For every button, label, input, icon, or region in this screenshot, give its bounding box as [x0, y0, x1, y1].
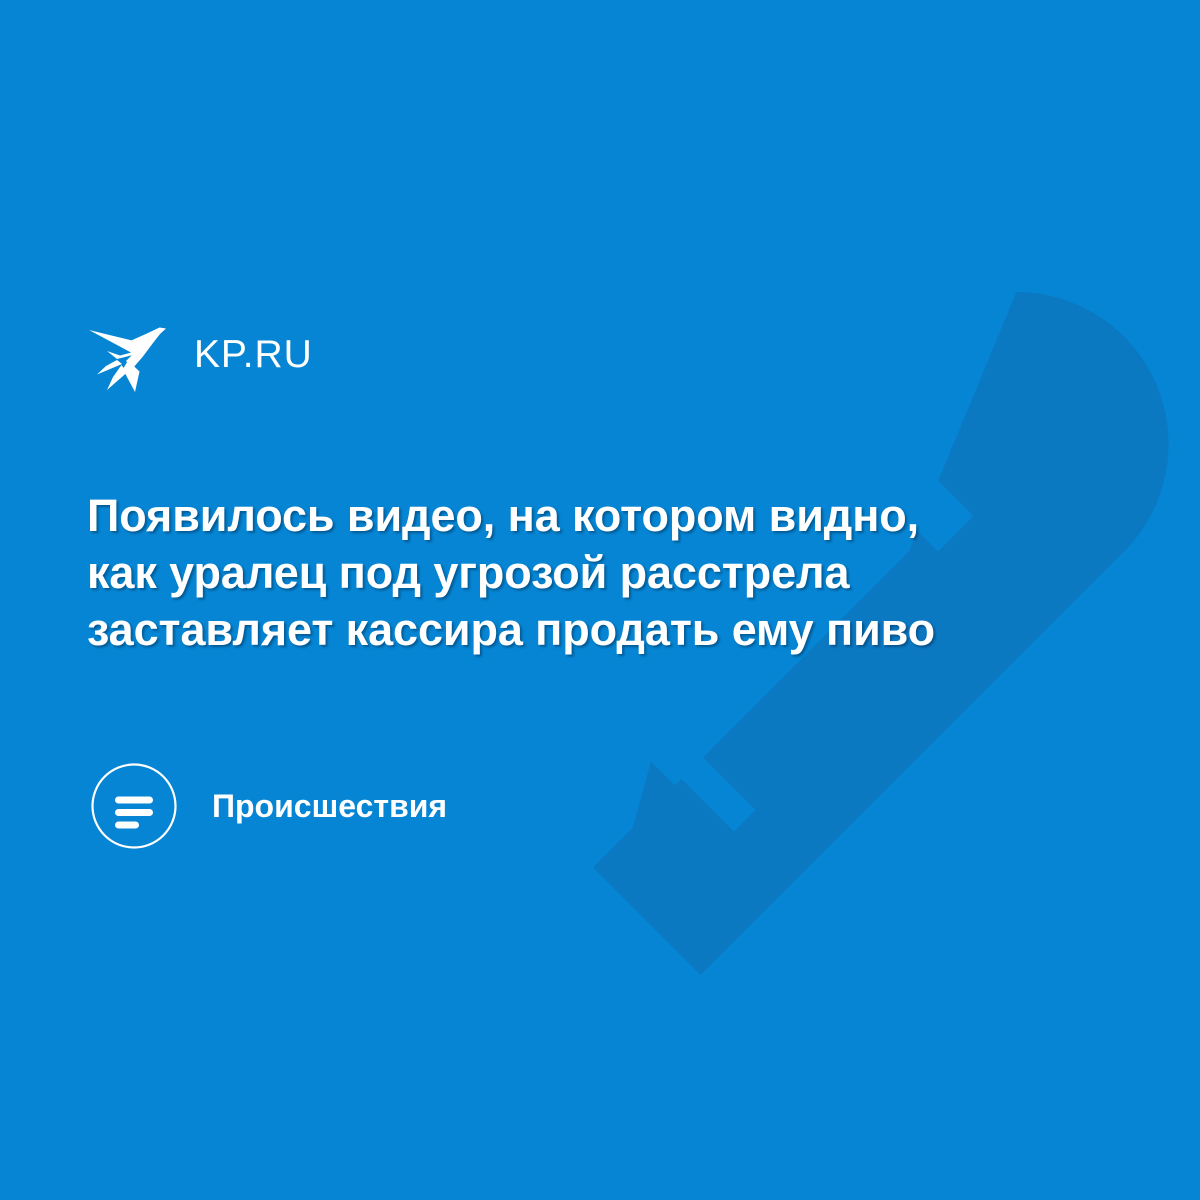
- headline: Появилось видео, на котором видно, как у…: [87, 487, 1047, 658]
- swallow-bird-icon: [87, 312, 173, 396]
- category-label: Происшествия: [212, 790, 447, 822]
- headline-line-2: как уралец под угрозой расстрела: [87, 544, 1047, 601]
- brand-name: KP.RU: [194, 335, 313, 374]
- category-icon-wrap: [90, 762, 178, 850]
- category-tag[interactable]: Происшествия: [90, 760, 447, 852]
- news-share-card: KP.RU Появилось видео, на котором видно,…: [0, 0, 1200, 1200]
- headline-line-3: заставляет кассира продать ему пиво: [87, 601, 1047, 658]
- headline-line-1: Появилось видео, на котором видно,: [87, 487, 1047, 544]
- brand-logo[interactable]: KP.RU: [87, 312, 313, 396]
- list-lines-icon: [90, 762, 178, 850]
